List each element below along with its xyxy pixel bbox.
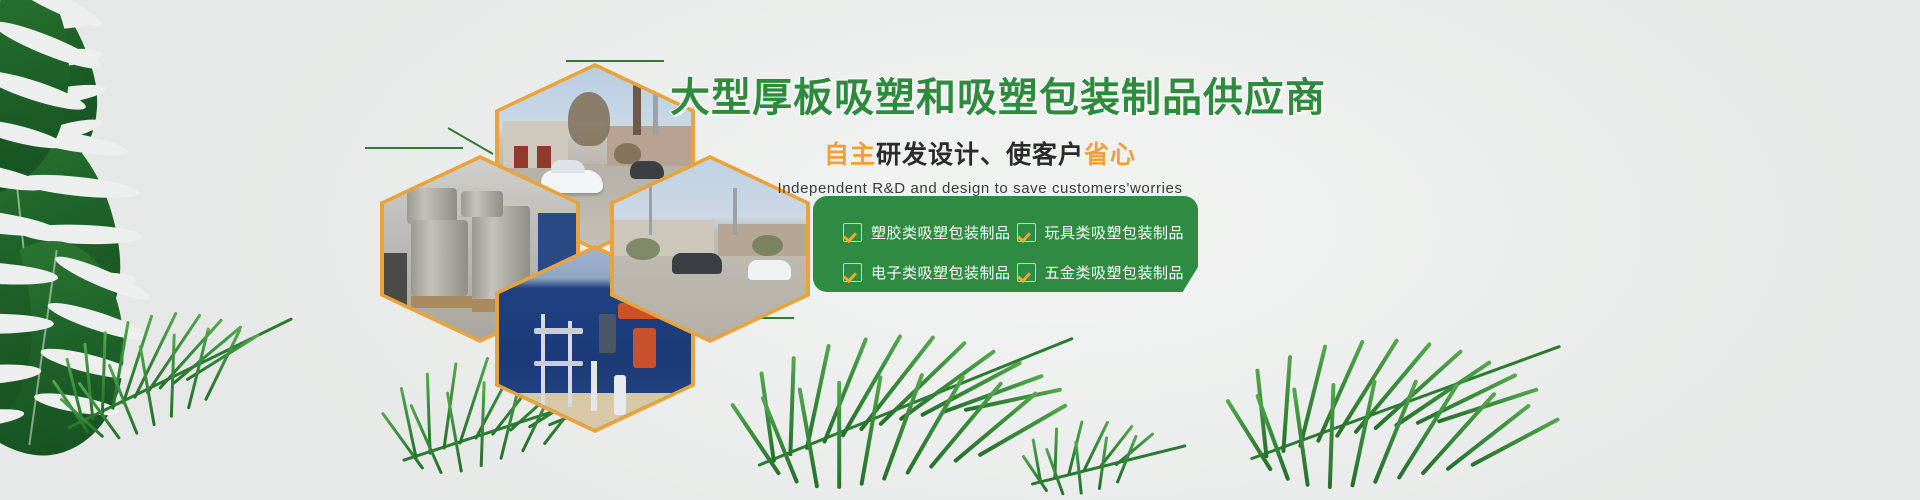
subtitle-highlight-end: 省心: [1084, 140, 1136, 169]
product-category-panel: 塑胶类吸塑包装制品 玩具类吸塑包装制品 电子类吸塑包装制品 五金类吸塑包装制品: [813, 196, 1198, 292]
hex-accent-line-top: [566, 60, 664, 62]
subtitle-line: 自主研发设计、使客户省心: [670, 135, 1290, 171]
subtitle-highlight-start: 自主: [824, 140, 876, 169]
category-tag-toys[interactable]: 玩具类吸塑包装制品: [1017, 212, 1185, 252]
category-tag-label: 电子类吸塑包装制品: [871, 262, 1011, 283]
copy-block: 大型厚板吸塑和吸塑包装制品供应商 自主研发设计、使客户省心 Independen…: [670, 78, 1290, 197]
category-tag-label: 塑胶类吸塑包装制品: [871, 222, 1011, 243]
subtitle-english: Independent R&D and design to save custo…: [670, 180, 1290, 197]
subtitle-middle: 研发设计、使客户: [876, 140, 1084, 169]
check-icon: [843, 223, 862, 242]
check-icon: [1017, 263, 1036, 282]
category-tag-plastic[interactable]: 塑胶类吸塑包装制品: [843, 212, 1011, 252]
category-tag-label: 五金类吸塑包装制品: [1045, 262, 1185, 283]
category-tag-electronics[interactable]: 电子类吸塑包装制品: [843, 252, 1011, 292]
hero-banner: 大型厚板吸塑和吸塑包装制品供应商 自主研发设计、使客户省心 Independen…: [0, 0, 1920, 500]
category-tag-label: 玩具类吸塑包装制品: [1045, 222, 1185, 243]
hex-accent-line-left: [365, 147, 463, 149]
check-icon: [1017, 223, 1036, 242]
category-tag-hardware[interactable]: 五金类吸塑包装制品: [1017, 252, 1185, 292]
check-icon: [843, 263, 862, 282]
hex-accent-line-left-diag: [448, 127, 494, 155]
page-title: 大型厚板吸塑和吸塑包装制品供应商: [670, 78, 1290, 118]
